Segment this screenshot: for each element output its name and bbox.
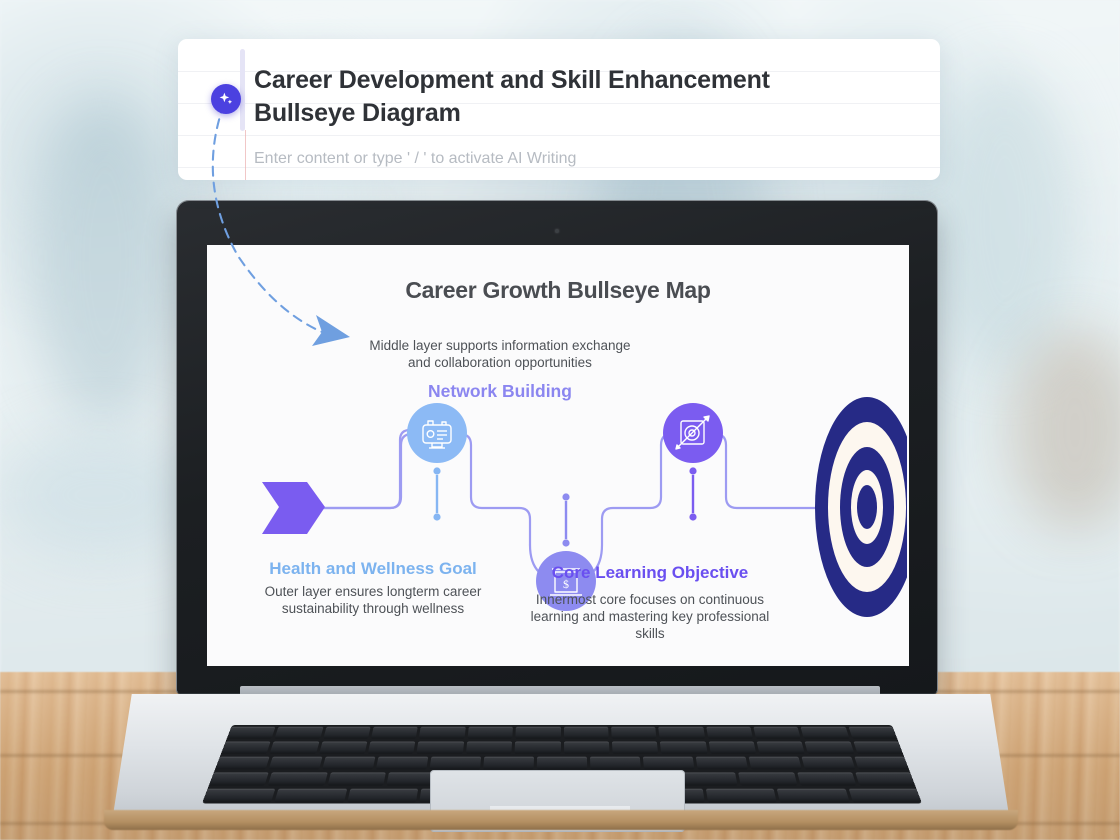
keyboard-key[interactable] bbox=[268, 772, 327, 785]
keyboard-key[interactable] bbox=[706, 727, 753, 739]
keyboard-key[interactable] bbox=[801, 757, 855, 770]
bullseye-target-icon bbox=[815, 397, 907, 617]
label-block-health-wellness-goal: Health and Wellness Goal Outer layer ens… bbox=[239, 558, 507, 617]
ai-writing-button[interactable] bbox=[211, 84, 241, 114]
laptop-base-front-lip bbox=[104, 810, 1018, 830]
keyboard-key[interactable] bbox=[323, 727, 371, 739]
keyboard-row[interactable] bbox=[221, 741, 903, 753]
connector-dot bbox=[433, 513, 440, 520]
keyboard-key[interactable] bbox=[269, 757, 323, 770]
keyboard-key[interactable] bbox=[347, 789, 418, 803]
keyboard-key[interactable] bbox=[515, 727, 560, 739]
keyboard-key[interactable] bbox=[757, 741, 806, 753]
label-heading: Health and Wellness Goal bbox=[239, 558, 507, 580]
keyboard-key[interactable] bbox=[612, 741, 659, 753]
keyboard-key[interactable] bbox=[658, 727, 704, 739]
label-description: Innermost core focuses on continuous lea… bbox=[517, 591, 783, 642]
keyboard-key[interactable] bbox=[848, 727, 897, 739]
label-description: Outer layer ensures longterm career sust… bbox=[239, 583, 507, 617]
keyboard-key[interactable] bbox=[270, 741, 319, 753]
keyboard-key[interactable] bbox=[319, 741, 368, 753]
arrowhead-icon bbox=[312, 315, 350, 346]
keyboard-key[interactable] bbox=[854, 757, 909, 770]
keyboard-key[interactable] bbox=[777, 789, 849, 803]
keyboard-key[interactable] bbox=[853, 741, 903, 753]
connector-dot bbox=[562, 493, 569, 500]
chevron-banner-icon bbox=[262, 482, 325, 534]
node-3-group[interactable] bbox=[663, 403, 723, 521]
keyboard-key[interactable] bbox=[466, 741, 513, 753]
node-3-circle[interactable] bbox=[663, 403, 723, 463]
keyboard-key[interactable] bbox=[515, 741, 561, 753]
keyboard-key[interactable] bbox=[419, 727, 465, 739]
connector-dot bbox=[433, 467, 440, 474]
keyboard-key[interactable] bbox=[215, 757, 270, 770]
keyboard-key[interactable] bbox=[708, 741, 756, 753]
node-1-group[interactable] bbox=[407, 403, 467, 521]
connector-path-d bbox=[701, 434, 832, 508]
keyboard-key[interactable] bbox=[221, 741, 271, 753]
keyboard-key[interactable] bbox=[797, 772, 856, 785]
label-heading: Core Learning Objective bbox=[517, 562, 783, 584]
webcam-icon bbox=[555, 229, 559, 233]
keyboard-key[interactable] bbox=[805, 741, 854, 753]
keyboard-key[interactable] bbox=[696, 757, 748, 770]
label-heading: Network Building bbox=[367, 380, 633, 402]
keyboard-key[interactable] bbox=[801, 727, 849, 739]
keyboard-key[interactable] bbox=[322, 757, 375, 770]
keyboard-row[interactable] bbox=[215, 757, 909, 770]
keyboard-key[interactable] bbox=[227, 727, 276, 739]
keyboard-key[interactable] bbox=[209, 772, 269, 785]
keyboard-key[interactable] bbox=[753, 727, 801, 739]
keyboard-key[interactable] bbox=[275, 727, 323, 739]
connector-segment bbox=[312, 430, 410, 508]
keyboard-key[interactable] bbox=[376, 757, 428, 770]
label-block-network-building: Middle layer supports information exchan… bbox=[367, 337, 633, 402]
keyboard-row[interactable] bbox=[227, 727, 897, 739]
keyboard-key[interactable] bbox=[371, 727, 418, 739]
sparkle-icon bbox=[217, 90, 235, 108]
keyboard-key[interactable] bbox=[706, 789, 777, 803]
connector-dot bbox=[689, 513, 696, 520]
annotation-pointer bbox=[180, 96, 370, 356]
keyboard-key[interactable] bbox=[590, 757, 641, 770]
keyboard-key[interactable] bbox=[660, 741, 707, 753]
keyboard-key[interactable] bbox=[749, 757, 802, 770]
keyboard-key[interactable] bbox=[417, 741, 464, 753]
keyboard-key[interactable] bbox=[643, 757, 695, 770]
label-block-core-learning-objective: Core Learning Objective Innermost core f… bbox=[517, 562, 783, 642]
keyboard-key[interactable] bbox=[680, 772, 738, 785]
keyboard-key[interactable] bbox=[611, 727, 657, 739]
keyboard-key[interactable] bbox=[537, 757, 587, 770]
connector-dot bbox=[689, 467, 696, 474]
keyboard-key[interactable] bbox=[848, 789, 921, 803]
keyboard-key[interactable] bbox=[202, 789, 275, 803]
label-description: Middle layer supports information exchan… bbox=[367, 337, 633, 371]
dashed-curve bbox=[213, 104, 322, 332]
screenshot-stage: Career Growth Bullseye Map bbox=[0, 0, 1120, 840]
keyboard-key[interactable] bbox=[564, 727, 609, 739]
keyboard-key[interactable] bbox=[564, 741, 610, 753]
keyboard-key[interactable] bbox=[467, 727, 513, 739]
keyboard-key[interactable] bbox=[855, 772, 915, 785]
keyboard-key[interactable] bbox=[430, 757, 482, 770]
keyboard-key[interactable] bbox=[738, 772, 796, 785]
keyboard-key[interactable] bbox=[483, 757, 534, 770]
keyboard-key[interactable] bbox=[275, 789, 347, 803]
keyboard-key[interactable] bbox=[327, 772, 385, 785]
node-1-circle[interactable] bbox=[407, 403, 467, 463]
keyboard-key[interactable] bbox=[368, 741, 416, 753]
connector-dot bbox=[562, 539, 569, 546]
